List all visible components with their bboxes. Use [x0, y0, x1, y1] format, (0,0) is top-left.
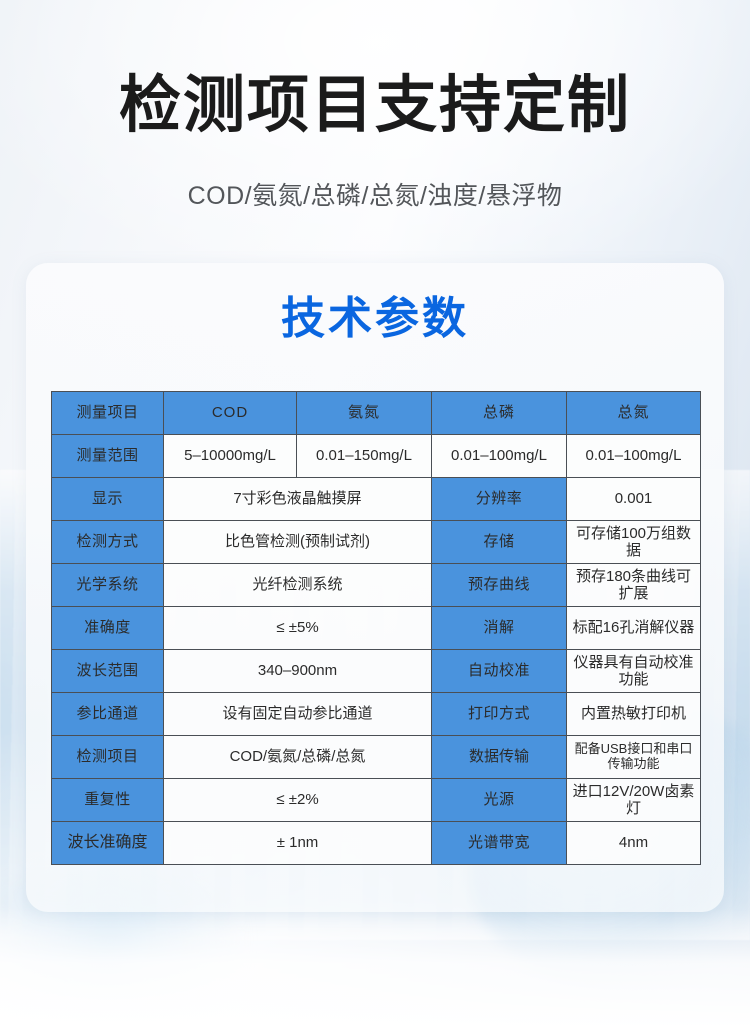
- row-label-wavelength-range: 波长范围: [52, 650, 164, 693]
- table-row: 光学系统 光纤检测系统 预存曲线 预存180条曲线可扩展: [52, 564, 701, 607]
- header-col-cod: COD: [164, 392, 297, 435]
- page-subtitle: COD/氨氮/总磷/总氮/浊度/悬浮物: [0, 136, 750, 212]
- technical-parameters-table: 测量项目 COD 氨氮 总磷 总氮 测量范围 5–10000mg/L 0.01–…: [51, 391, 701, 865]
- header-col-ammonia-nitrogen: 氨氮: [297, 392, 432, 435]
- row-label-light-source: 光源: [432, 779, 567, 822]
- section-title: 技术参数: [26, 263, 724, 343]
- row-label-prestored-curves: 预存曲线: [432, 564, 567, 607]
- row-label-digestion: 消解: [432, 607, 567, 650]
- row-value-wavelength-accuracy: ± 1nm: [164, 822, 432, 865]
- table-row: 检测方式 比色管检测(预制试剂) 存储 可存储100万组数据: [52, 521, 701, 564]
- header-col-total-phosphorus: 总磷: [432, 392, 567, 435]
- page-title: 检测项目支持定制: [0, 0, 750, 136]
- row-label-data-transmission: 数据传输: [432, 736, 567, 779]
- row-value-display: 7寸彩色液晶触摸屏: [164, 478, 432, 521]
- table-row: 检测项目 COD/氨氮/总磷/总氮 数据传输 配备USB接口和串口传输功能: [52, 736, 701, 779]
- row-label-storage: 存储: [432, 521, 567, 564]
- row-value-detection-items: COD/氨氮/总磷/总氮: [164, 736, 432, 779]
- product-spec-page: 检测项目支持定制 COD/氨氮/总磷/总氮/浊度/悬浮物 技术参数 测量项目 C…: [0, 0, 750, 1029]
- row-value-detection-method: 比色管检测(预制试剂): [164, 521, 432, 564]
- row-label-repeatability: 重复性: [52, 779, 164, 822]
- row-label-detection-items: 检测项目: [52, 736, 164, 779]
- row-label-auto-calibration: 自动校准: [432, 650, 567, 693]
- row-value-spectral-bandwidth: 4nm: [567, 822, 701, 865]
- row-label-spectral-bandwidth: 光谱带宽: [432, 822, 567, 865]
- row-value-data-transmission: 配备USB接口和串口传输功能: [567, 736, 701, 779]
- row-label-display: 显示: [52, 478, 164, 521]
- range-value-ammonia-nitrogen: 0.01–150mg/L: [297, 435, 432, 478]
- table-row: 重复性 ≤ ±2% 光源 进口12V/20W卤素灯: [52, 779, 701, 822]
- row-value-print-method: 内置热敏打印机: [567, 693, 701, 736]
- header-col-total-nitrogen: 总氮: [567, 392, 701, 435]
- table-row: 波长准确度 ± 1nm 光谱带宽 4nm: [52, 822, 701, 865]
- table-row-header: 测量项目 COD 氨氮 总磷 总氮: [52, 392, 701, 435]
- row-label-print-method: 打印方式: [432, 693, 567, 736]
- row-value-prestored-curves: 预存180条曲线可扩展: [567, 564, 701, 607]
- spec-table-container: 测量项目 COD 氨氮 总磷 总氮 测量范围 5–10000mg/L 0.01–…: [51, 391, 700, 865]
- row-value-light-source: 进口12V/20W卤素灯: [567, 779, 701, 822]
- header-label-measurement-item: 测量项目: [52, 392, 164, 435]
- row-label-wavelength-accuracy: 波长准确度: [52, 822, 164, 865]
- row-value-resolution: 0.001: [567, 478, 701, 521]
- table-row: 准确度 ≤ ±5% 消解 标配16孔消解仪器: [52, 607, 701, 650]
- row-label-optical-system: 光学系统: [52, 564, 164, 607]
- table-row-measurement-range: 测量范围 5–10000mg/L 0.01–150mg/L 0.01–100mg…: [52, 435, 701, 478]
- row-value-optical-system: 光纤检测系统: [164, 564, 432, 607]
- row-value-reference-channel: 设有固定自动参比通道: [164, 693, 432, 736]
- row-label-detection-method: 检测方式: [52, 521, 164, 564]
- bottom-fade-overlay: [0, 909, 750, 1029]
- row-value-storage: 可存储100万组数据: [567, 521, 701, 564]
- row-label-measurement-range: 测量范围: [52, 435, 164, 478]
- spec-card: 技术参数 测量项目 COD 氨氮 总磷 总氮: [26, 263, 724, 912]
- table-row: 显示 7寸彩色液晶触摸屏 分辨率 0.001: [52, 478, 701, 521]
- range-value-cod: 5–10000mg/L: [164, 435, 297, 478]
- row-label-resolution: 分辨率: [432, 478, 567, 521]
- row-label-accuracy: 准确度: [52, 607, 164, 650]
- row-value-accuracy: ≤ ±5%: [164, 607, 432, 650]
- row-value-repeatability: ≤ ±2%: [164, 779, 432, 822]
- row-value-wavelength-range: 340–900nm: [164, 650, 432, 693]
- table-row: 波长范围 340–900nm 自动校准 仪器具有自动校准功能: [52, 650, 701, 693]
- table-row: 参比通道 设有固定自动参比通道 打印方式 内置热敏打印机: [52, 693, 701, 736]
- row-label-reference-channel: 参比通道: [52, 693, 164, 736]
- range-value-total-nitrogen: 0.01–100mg/L: [567, 435, 701, 478]
- page-header: 检测项目支持定制 COD/氨氮/总磷/总氮/浊度/悬浮物: [0, 0, 750, 212]
- range-value-total-phosphorus: 0.01–100mg/L: [432, 435, 567, 478]
- row-value-auto-calibration: 仪器具有自动校准功能: [567, 650, 701, 693]
- row-value-digestion: 标配16孔消解仪器: [567, 607, 701, 650]
